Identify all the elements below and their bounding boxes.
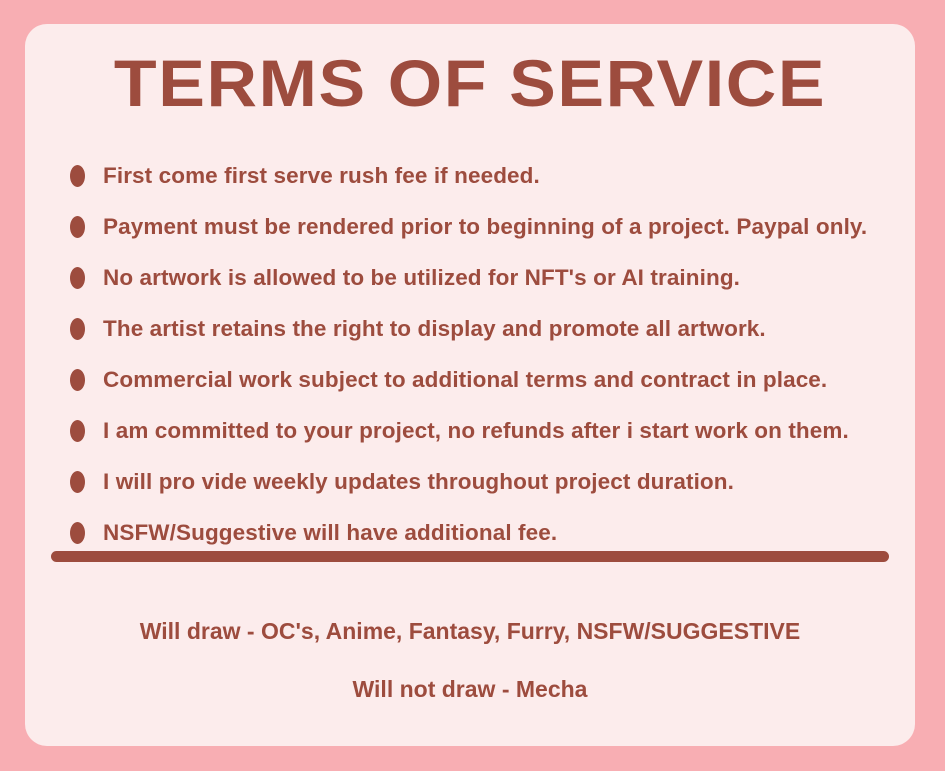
oval-bullet-icon bbox=[70, 216, 85, 238]
poster-card: TERMS OF SERVICE First come first serve … bbox=[25, 24, 915, 746]
term-text: First come first serve rush fee if neede… bbox=[103, 163, 540, 189]
term-text: Payment must be rendered prior to beginn… bbox=[103, 214, 867, 240]
terms-list: First come first serve rush fee if neede… bbox=[45, 150, 925, 558]
term-text: NSFW/Suggestive will have additional fee… bbox=[103, 520, 557, 546]
list-item: The artist retains the right to display … bbox=[45, 303, 925, 354]
oval-bullet-icon bbox=[70, 165, 85, 187]
oval-bullet-icon bbox=[70, 318, 85, 340]
terms-of-service-poster: TERMS OF SERVICE First come first serve … bbox=[0, 0, 945, 771]
list-item: No artwork is allowed to be utilized for… bbox=[45, 252, 925, 303]
term-text: I will pro vide weekly updates throughou… bbox=[103, 469, 734, 495]
oval-bullet-icon bbox=[70, 267, 85, 289]
term-text: Commercial work subject to additional te… bbox=[103, 367, 827, 393]
term-text: No artwork is allowed to be utilized for… bbox=[103, 265, 740, 291]
oval-bullet-icon bbox=[70, 420, 85, 442]
page-title: TERMS OF SERVICE bbox=[0, 46, 942, 120]
list-item: First come first serve rush fee if neede… bbox=[45, 150, 925, 201]
term-text: I am committed to your project, no refun… bbox=[103, 418, 849, 444]
oval-bullet-icon bbox=[70, 471, 85, 493]
list-item: Payment must be rendered prior to beginn… bbox=[45, 201, 925, 252]
list-item: I am committed to your project, no refun… bbox=[45, 405, 925, 456]
list-item: Commercial work subject to additional te… bbox=[45, 354, 925, 405]
list-item: I will pro vide weekly updates throughou… bbox=[45, 456, 925, 507]
will-draw-text: Will draw - OC's, Anime, Fantasy, Furry,… bbox=[25, 617, 915, 645]
section-divider bbox=[51, 551, 889, 562]
oval-bullet-icon bbox=[70, 369, 85, 391]
will-not-draw-text: Will not draw - Mecha bbox=[25, 675, 915, 703]
oval-bullet-icon bbox=[70, 522, 85, 544]
term-text: The artist retains the right to display … bbox=[103, 316, 766, 342]
